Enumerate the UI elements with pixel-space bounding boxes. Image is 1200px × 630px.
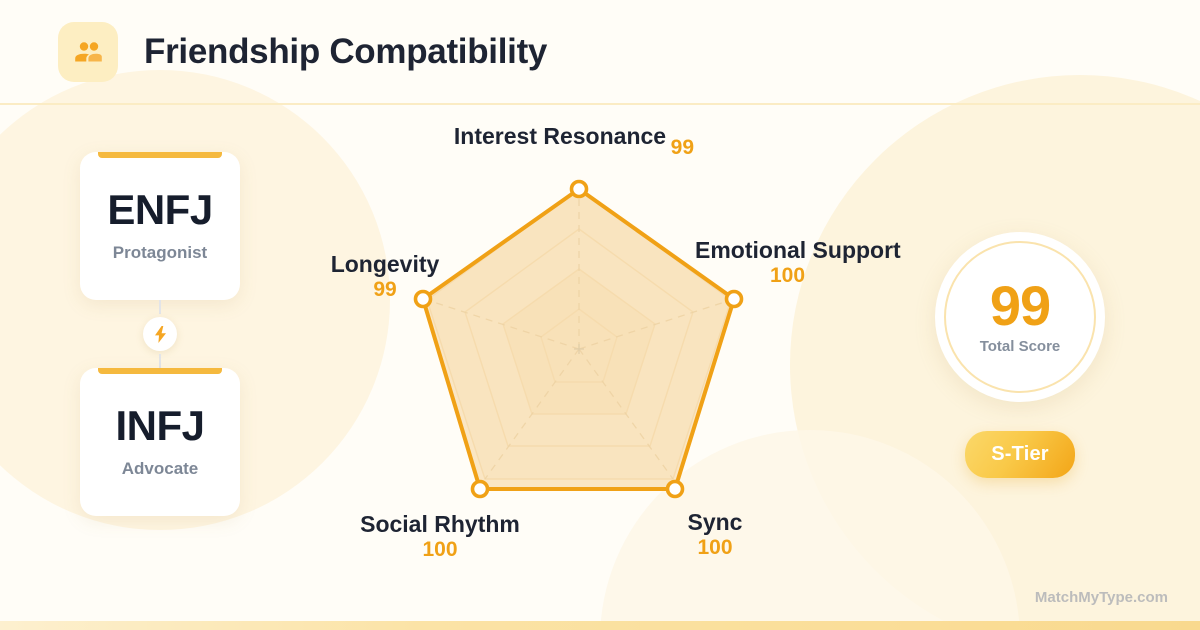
radar-point-social-rhythm: [473, 482, 488, 497]
type-card-second[interactable]: INFJ Advocate: [80, 368, 240, 516]
type-name-second: Advocate: [122, 459, 199, 479]
type-card-first[interactable]: ENFJ Protagonist: [80, 152, 240, 300]
radar-point-emotional-support: [727, 292, 742, 307]
axis-value-sync: 100: [635, 536, 795, 560]
footer-accent-bar: [0, 621, 1200, 630]
connector-line-bottom: [159, 354, 161, 368]
tier-badge: S-Tier: [965, 431, 1075, 478]
axis-label-sync: Sync 100: [635, 510, 795, 559]
total-score-column: 99 Total Score S-Tier: [935, 232, 1105, 478]
type-code-first: ENFJ: [107, 189, 212, 231]
total-score-inner: 99 Total Score: [980, 279, 1061, 356]
type-code-second: INFJ: [115, 405, 204, 447]
axis-value-longevity: 99: [290, 278, 480, 302]
axis-label-social-rhythm: Social Rhythm 100: [320, 512, 560, 561]
radar-data-area: [423, 189, 734, 489]
people-group-icon: [58, 22, 118, 82]
type-pair-column: ENFJ Protagonist INFJ Advocate: [80, 152, 240, 516]
axis-name-sync: Sync: [635, 510, 795, 536]
axis-label-longevity: Longevity 99: [290, 252, 480, 301]
axis-label-emotional-support: Emotional Support 100: [695, 238, 880, 287]
axis-value-social-rhythm: 100: [320, 538, 560, 562]
radar-point-interest-resonance: [572, 182, 587, 197]
total-score-value: 99: [990, 279, 1050, 334]
axis-name-social-rhythm: Social Rhythm: [320, 512, 560, 538]
axis-label-interest-resonance: Interest Resonance 99: [450, 124, 670, 150]
type-name-first: Protagonist: [113, 243, 207, 263]
type-connector: [80, 300, 240, 368]
compatibility-radar-chart: Interest Resonance 99 Emotional Support …: [300, 110, 880, 610]
header-bar: Friendship Compatibility: [0, 0, 1200, 105]
axis-name-longevity: Longevity: [290, 252, 480, 278]
axis-value-emotional-support: 100: [695, 264, 880, 288]
connector-line-top: [159, 300, 161, 314]
lightning-bolt-icon: [143, 317, 177, 351]
axis-name-interest-resonance: Interest Resonance: [450, 124, 670, 150]
page-title: Friendship Compatibility: [144, 32, 547, 72]
site-watermark: MatchMyType.com: [1035, 589, 1168, 606]
compatibility-card: Friendship Compatibility ENFJ Protagonis…: [0, 0, 1200, 630]
total-score-ring: 99 Total Score: [935, 232, 1105, 402]
axis-name-emotional-support: Emotional Support: [695, 238, 880, 264]
radar-point-sync: [668, 482, 683, 497]
axis-value-interest-resonance: 99: [671, 136, 694, 160]
total-score-caption: Total Score: [980, 338, 1061, 355]
